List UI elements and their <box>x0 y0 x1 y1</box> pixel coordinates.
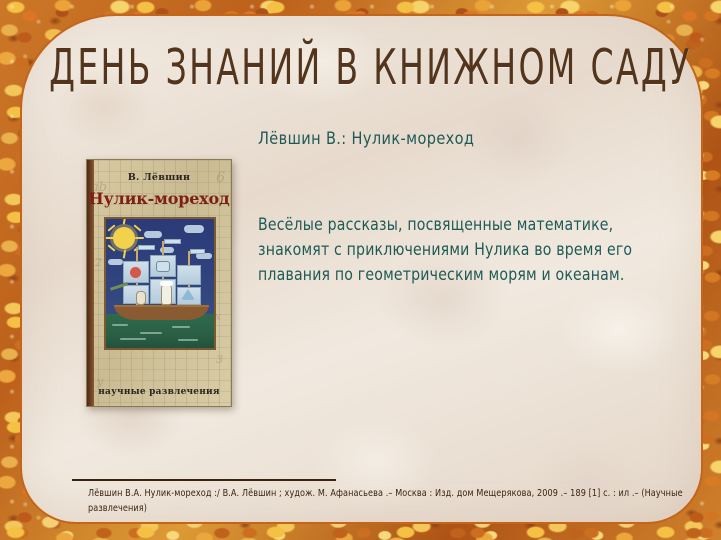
wave <box>112 324 128 326</box>
slide-root: ДЕНЬ ЗНАНИЙ В КНИЖНОМ САДУ ab 6 2 x y 3 … <box>0 0 721 540</box>
cloud-icon <box>108 259 123 265</box>
sail-emblem-circle <box>130 267 141 278</box>
sun-ray <box>135 237 144 239</box>
book-description: Весёлые рассказы, посвященные математике… <box>258 212 687 287</box>
character-captain <box>161 285 172 305</box>
book-cover-image: ab 6 2 x y 3 В. Лёвшин Нулик-мореход <box>86 159 232 407</box>
citation-divider <box>72 479 336 481</box>
sail-emblem-triangle <box>181 289 195 300</box>
bibliographic-citation: Лёвшин В.А. Нулик-мореход :/ В.А. Лёвшин… <box>88 486 687 516</box>
wave <box>120 338 146 340</box>
sun-ray <box>105 237 114 239</box>
wave <box>178 339 198 341</box>
ship-sail <box>177 265 201 285</box>
captain-hat <box>160 281 173 286</box>
book-cover-series: научные развлечения <box>87 387 231 397</box>
ship-flag <box>164 239 181 244</box>
character-nulik <box>136 291 146 305</box>
ghost-mark-three: 3 <box>216 353 223 366</box>
sun-icon <box>113 227 135 249</box>
book-heading: Лёвшин В.: Нулик-мореход <box>258 129 657 149</box>
ship-hull <box>114 305 209 320</box>
ship-flag <box>138 245 155 250</box>
ship-flag <box>190 249 205 254</box>
book-cover-author: В. Лёвшин <box>87 172 231 183</box>
wave <box>172 326 190 328</box>
sail-emblem-square <box>156 261 170 272</box>
ship-illustration <box>104 217 216 350</box>
ghost-mark-two: 2 <box>95 256 102 269</box>
content-panel: ДЕНЬ ЗНАНИЙ В КНИЖНОМ САДУ ab 6 2 x y 3 … <box>20 14 703 524</box>
wave <box>140 332 162 334</box>
cloud-icon <box>144 231 162 238</box>
cloud-icon <box>184 225 204 233</box>
page-title: ДЕНЬ ЗНАНИЙ В КНИЖНОМ САДУ <box>49 40 674 96</box>
book-cover-title: Нулик-мореход <box>87 189 231 208</box>
